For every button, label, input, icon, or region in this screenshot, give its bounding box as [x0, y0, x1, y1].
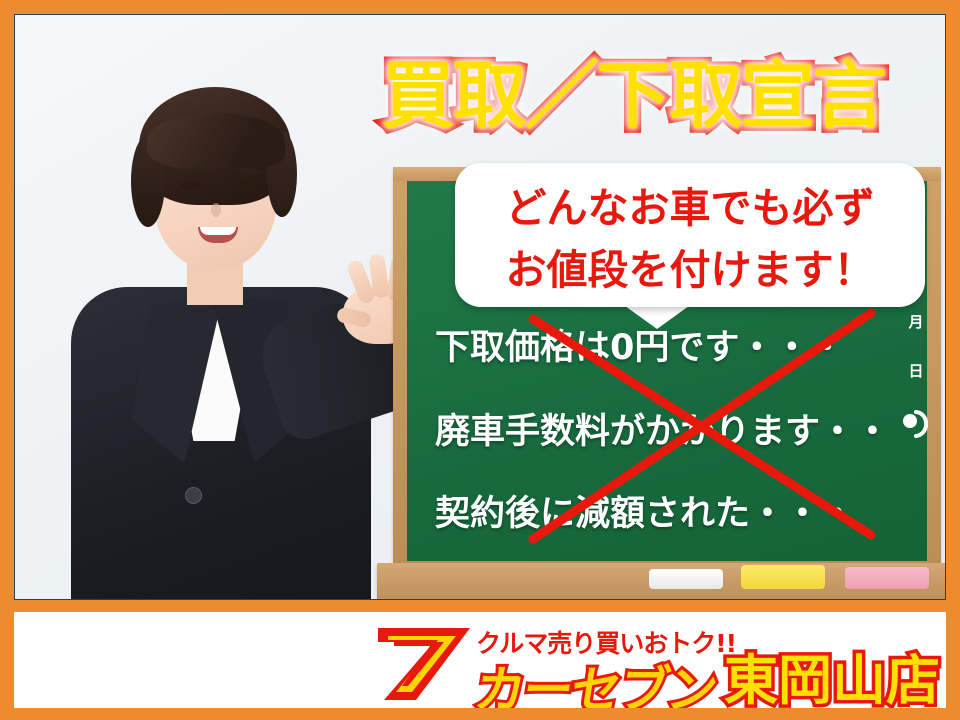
chalk-doodle-icon — [899, 407, 935, 441]
nose — [211, 203, 221, 217]
board-line-2: 廃車手数料がかかります・・ — [435, 403, 890, 454]
footer-shop-name: 東岡山店 — [724, 636, 940, 708]
yellow-chalk — [741, 565, 825, 589]
car-seven-logo-icon — [372, 622, 476, 702]
jacket-button — [185, 487, 202, 504]
chalk-ledge — [377, 563, 946, 600]
bubble-line-1: どんなお車でも必ず — [506, 174, 875, 234]
pink-chalk — [845, 567, 929, 589]
board-line-3: 契約後に減額された・・・ — [435, 485, 855, 536]
date-label-day: 日 — [908, 364, 923, 379]
speech-bubble: どんなお車でも必ず お値段を付けます！ — [455, 163, 925, 307]
bubble-line-2: お値段を付けます！ — [506, 236, 875, 296]
footer-bar: クルマ売り買いおトク!! カーセブン 東岡山店 — [14, 612, 946, 708]
headline-title: 買取／下取宣言 — [313, 39, 946, 139]
white-chalk — [649, 569, 723, 589]
poster-root: 買取／下取宣言 下取価格は0円です・・・ 廃車手数料が — [0, 0, 960, 720]
eye-left — [181, 181, 200, 190]
hair-fringe — [147, 113, 285, 169]
eye-right — [235, 181, 254, 190]
main-photo-panel: 買取／下取宣言 下取価格は0円です・・・ 廃車手数料が — [14, 14, 946, 600]
date-label-month: 月 — [908, 315, 923, 330]
footer-brand-name: カーセブン — [470, 650, 721, 708]
date-column: 月 日 — [903, 315, 929, 379]
